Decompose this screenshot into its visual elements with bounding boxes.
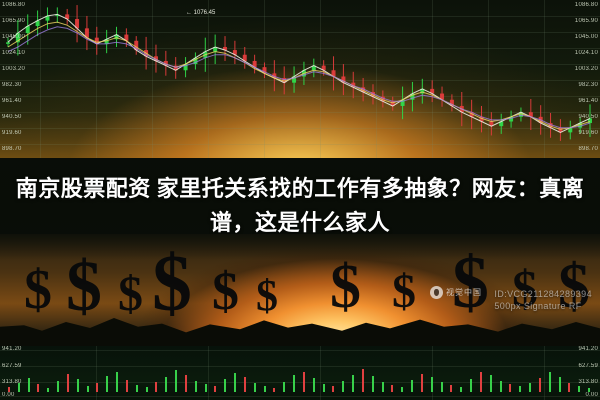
dollar-sign-icon: $ (330, 256, 361, 318)
dollar-sign-icon: $ (152, 244, 192, 324)
volume-bar (519, 386, 521, 392)
volume-bar (214, 386, 216, 392)
axis-label-left: 961.40 (2, 98, 22, 104)
dollar-sign-icon: $ (212, 264, 239, 318)
volume-bar (136, 385, 138, 392)
page-title: 南京股票配资 家里托关系找的工作有多抽象？网友：真离谱，这是什么家人 (14, 172, 586, 240)
volume-bar (77, 379, 79, 392)
bottom-volume-chart: 941.20 627.59 313.80 0.00 941.20 627.59 … (0, 346, 600, 400)
axis-label-left: 313.80 (2, 379, 22, 385)
axis-label-right: 1086.80 (575, 2, 598, 8)
volume-bar (37, 384, 39, 392)
volume-bar (264, 386, 266, 392)
volume-bar (195, 381, 197, 392)
axis-label-left: 1045.00 (2, 34, 25, 40)
gridline-vertical (544, 346, 545, 400)
gridline-vertical (208, 346, 209, 400)
axis-label-right: 627.59 (578, 363, 598, 369)
volume-bar (126, 380, 128, 392)
volume-bar (460, 387, 462, 392)
volume-bar (87, 386, 89, 392)
volume-bar (342, 381, 344, 392)
vcg-id-text: ID:VCG211284289394 (494, 288, 592, 300)
volume-bar (205, 384, 207, 392)
dollar-sign-icon: $ (256, 274, 278, 318)
axis-label-right: 1045.00 (575, 34, 598, 40)
gridline-horizontal (0, 382, 600, 383)
dollar-sign-icon: $ (24, 262, 52, 318)
volume-bar (303, 372, 305, 392)
volume-bar (244, 377, 246, 392)
volume-bar (57, 381, 59, 392)
volume-bar (185, 375, 187, 392)
axis-label-left: 627.59 (2, 363, 22, 369)
gridline-horizontal (0, 350, 600, 351)
volume-bar (391, 385, 393, 392)
volume-bar (480, 372, 482, 392)
gridline-horizontal (0, 366, 600, 367)
volume-bar (362, 369, 364, 392)
volume-bar (352, 375, 354, 392)
price-series-svg (0, 0, 600, 158)
axis-label-right: 313.80 (578, 379, 598, 385)
volume-bar (234, 373, 236, 392)
axis-label-right: 982.30 (578, 82, 598, 88)
volume-bar (431, 377, 433, 392)
axis-label-left: 941.20 (2, 346, 22, 352)
volume-bar (401, 387, 403, 392)
image-root: 1086.80 1065.90 1045.00 1024.10 1003.20 … (0, 0, 600, 400)
volume-bar (411, 380, 413, 392)
sunset-dollar-photo: $ $ $ $ $ $ $ $ $ $ $ 视觉中国 ID:VCG2112842… (0, 234, 600, 346)
vcg-brand-label-cn: 视觉中国 (446, 288, 482, 297)
volume-bar (578, 386, 580, 392)
volume-bar (539, 378, 541, 392)
dollar-sign-icon: $ (118, 268, 143, 318)
axis-label-left: 919.60 (2, 130, 22, 136)
price-annotation: ← 1076.45 (186, 10, 215, 16)
axis-label-left: 940.50 (2, 114, 22, 120)
volume-bar (500, 381, 502, 392)
volume-bar (323, 384, 325, 392)
axis-label-left: 982.30 (2, 82, 22, 88)
volume-bar (549, 372, 551, 392)
volume-bar (67, 374, 69, 392)
volume-bar (441, 382, 443, 392)
volume-bar (175, 370, 177, 392)
volume-bar (382, 382, 384, 392)
vcg-brand-watermark: 视觉中国 (430, 286, 482, 299)
volume-bar (116, 372, 118, 392)
volume-bar (372, 376, 374, 392)
axis-label-right: 919.60 (578, 130, 598, 136)
volume-bar (293, 375, 295, 392)
dollar-sign-icon: $ (392, 268, 416, 316)
axis-label-left: 1086.80 (2, 2, 25, 8)
volume-bar (332, 386, 334, 392)
volume-bar (421, 374, 423, 392)
gridline-vertical (320, 346, 321, 400)
volume-bar (490, 375, 492, 392)
axis-label-right: 1024.10 (575, 50, 598, 56)
volume-bar (165, 377, 167, 392)
axis-label-right: 941.20 (578, 346, 598, 352)
axis-label-right: 961.40 (578, 98, 598, 104)
axis-label-right: 1003.20 (575, 66, 598, 72)
volume-bar (273, 388, 275, 392)
axis-label-left: 1003.20 (2, 66, 25, 72)
axis-label-right: 0.00 (586, 392, 598, 398)
axis-label-right: 1065.90 (575, 18, 598, 24)
axis-label-left: 898.70 (2, 146, 22, 152)
volume-bar (313, 378, 315, 392)
axis-label-right: 898.70 (578, 146, 598, 152)
axis-label-left: 1024.10 (2, 50, 25, 56)
volume-bar (106, 376, 108, 392)
volume-bar (529, 383, 531, 392)
vcg-license-text: 500px Signature RF (494, 300, 592, 312)
volume-bar (450, 385, 452, 392)
dollar-sign-icon: $ (452, 246, 489, 320)
volume-bar (568, 383, 570, 392)
volume-bar (254, 383, 256, 392)
dollar-sign-icon: $ (66, 250, 102, 322)
axis-label-right: 940.50 (578, 114, 598, 120)
vcg-logo-icon (430, 286, 443, 299)
volume-bar (96, 383, 98, 392)
volume-bar (146, 387, 148, 392)
axis-label-left: 1065.90 (2, 18, 25, 24)
axis-label-left: 0.00 (2, 392, 14, 398)
volume-bar (509, 384, 511, 392)
gridline-horizontal (0, 396, 600, 397)
vcg-id-watermark: ID:VCG211284289394 500px Signature RF (494, 288, 592, 312)
volume-bar (224, 379, 226, 392)
volume-bar (559, 377, 561, 392)
volume-bar (47, 388, 49, 392)
volume-bar (28, 378, 30, 392)
volume-bar (470, 379, 472, 392)
volume-bar (283, 382, 285, 392)
volume-bar (155, 382, 157, 392)
top-stock-chart: 1086.80 1065.90 1045.00 1024.10 1003.20 … (0, 0, 600, 158)
